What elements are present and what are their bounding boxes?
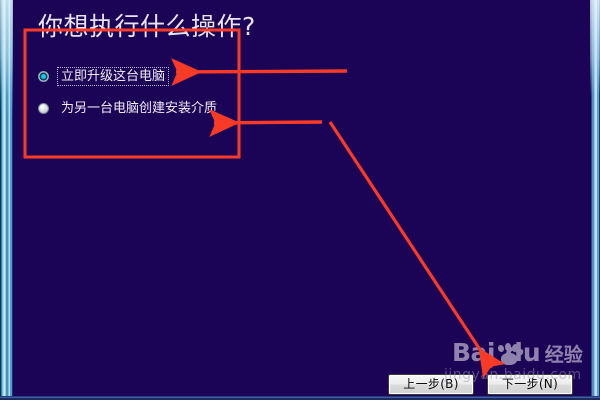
arrow-to-media-option	[214, 122, 322, 123]
radio-option-upgrade-this-pc-label[interactable]: 立即升级这台电脑	[58, 68, 168, 85]
arrow-to-upgrade-option	[176, 71, 347, 72]
window-left-edge-highlight	[0, 0, 13, 118]
radio-button-selected-icon[interactable]	[38, 71, 49, 82]
back-button[interactable]: 上一步(B)	[388, 374, 474, 395]
radio-option-create-installation-media-label[interactable]: 为另一台电脑创建安装介质	[58, 100, 220, 117]
setup-window: 你想执行什么操作? 立即升级这台电脑 为另一台电脑创建安装介质 上一步(B) 下…	[0, 0, 600, 400]
page-title: 你想执行什么操作?	[38, 7, 256, 43]
radio-option-upgrade-this-pc[interactable]: 立即升级这台电脑	[38, 68, 168, 85]
arrow-to-next-button	[330, 122, 492, 368]
baidu-logo-suffix: 经验	[545, 342, 583, 368]
paw-icon	[496, 344, 523, 368]
radio-option-create-installation-media[interactable]: 为另一台电脑创建安装介质	[38, 100, 220, 117]
window-bottom-edge	[0, 396, 600, 400]
annotation-box	[25, 30, 239, 157]
window-right-edge-highlight	[590, 0, 600, 96]
radio-button-unselected-icon[interactable]	[38, 103, 49, 114]
baidu-logo-bai: Bai	[452, 340, 495, 366]
baidu-logo: Bai du 经验	[452, 340, 592, 368]
annotation-overlay	[0, 0, 600, 400]
baidu-logo-du: du	[505, 340, 541, 366]
next-button[interactable]: 下一步(N)	[487, 374, 573, 395]
